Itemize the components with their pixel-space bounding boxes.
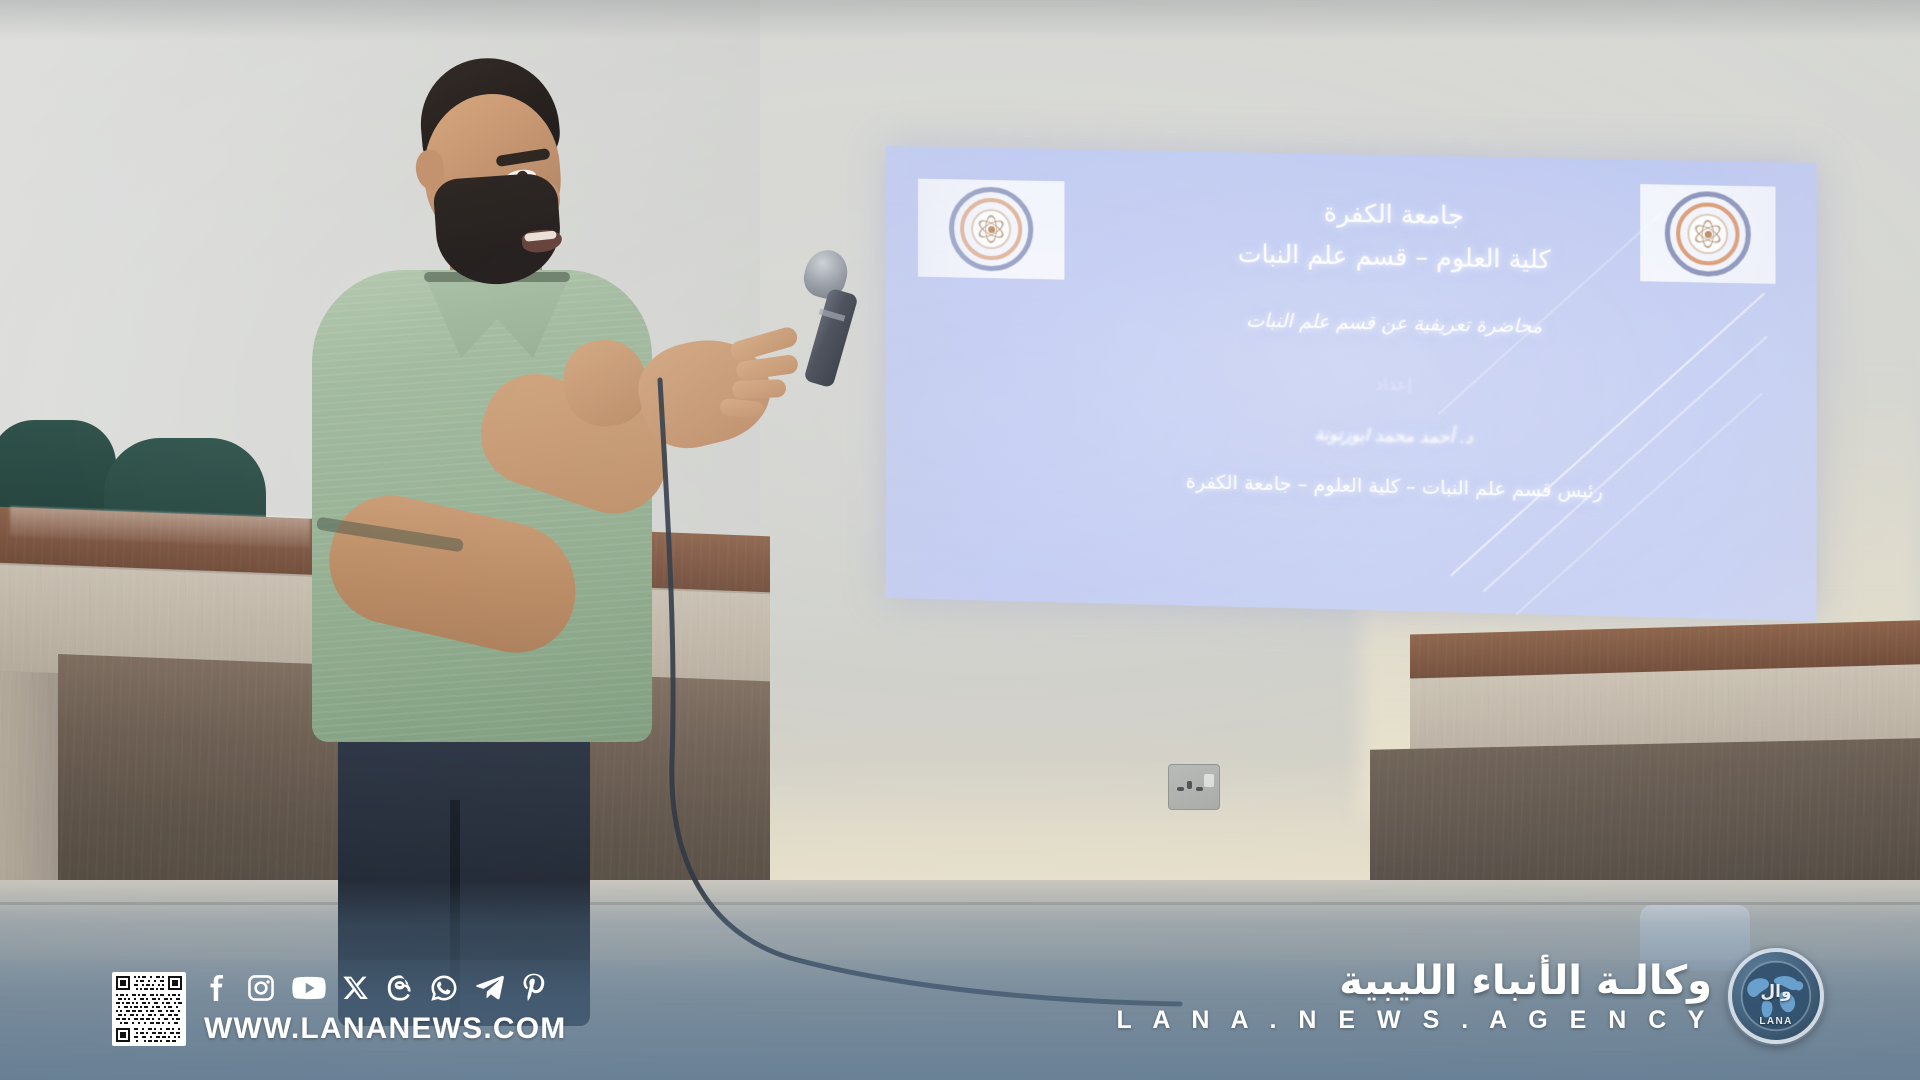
agency-name-english: L A N A . N E W S . A G E N C Y (1116, 1006, 1712, 1035)
pinterest-icon[interactable] (522, 973, 546, 1003)
telegram-icon[interactable] (475, 975, 505, 1001)
qr-code[interactable] (112, 972, 186, 1046)
lana-logo-english: LANA (1759, 1016, 1792, 1027)
branding-right: وكالـة الأنباء الليبية L A N A . N E W S… (1116, 948, 1824, 1044)
agency-name-arabic: وكالـة الأنباء الليبية (1339, 958, 1712, 1004)
social-links-row (204, 968, 566, 1008)
threads-icon[interactable] (386, 974, 413, 1002)
whatsapp-icon[interactable] (430, 974, 458, 1002)
youtube-icon[interactable] (292, 975, 326, 1001)
website-url[interactable]: WWW.LANANEWS.COM (204, 1012, 566, 1046)
photo-canvas: جامعة الكفرة كلية العلوم – قسم علم النبا… (0, 0, 1920, 1080)
facebook-icon[interactable] (204, 973, 230, 1003)
lana-globe-logo: وال LANA (1728, 948, 1824, 1044)
photo-vignette (0, 0, 1920, 1080)
branding-left: WWW.LANANEWS.COM (112, 968, 566, 1046)
lana-logo-arabic: وال (1760, 982, 1791, 1002)
x-twitter-icon[interactable] (343, 975, 369, 1001)
instagram-icon[interactable] (247, 974, 275, 1002)
